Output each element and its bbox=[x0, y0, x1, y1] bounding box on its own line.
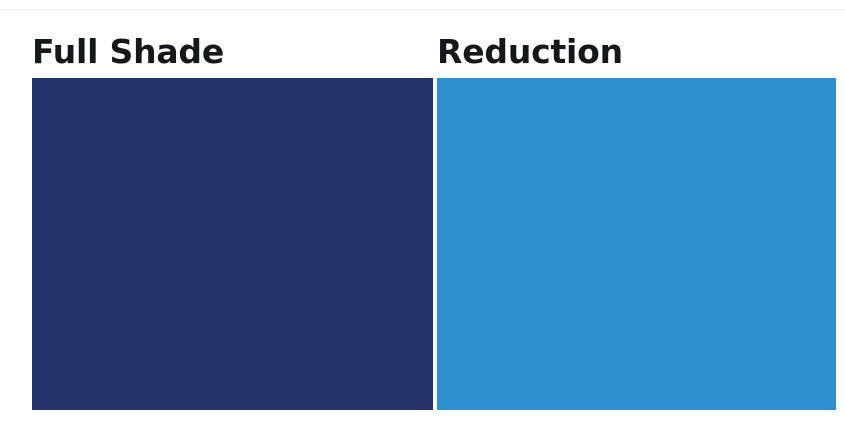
swatch-chip-full-shade bbox=[32, 78, 433, 410]
top-divider bbox=[0, 9, 845, 10]
swatch-column-full-shade: Full Shade bbox=[32, 24, 433, 410]
swatch-label-reduction: Reduction bbox=[437, 24, 836, 78]
swatch-comparison-page: Full Shade Reduction bbox=[0, 0, 845, 430]
swatch-label-full-shade: Full Shade bbox=[32, 24, 433, 78]
swatch-chip-reduction bbox=[437, 78, 836, 410]
swatch-column-reduction: Reduction bbox=[437, 24, 836, 410]
swatch-board: Full Shade Reduction bbox=[32, 24, 836, 410]
swatch-columns: Full Shade Reduction bbox=[32, 24, 836, 410]
